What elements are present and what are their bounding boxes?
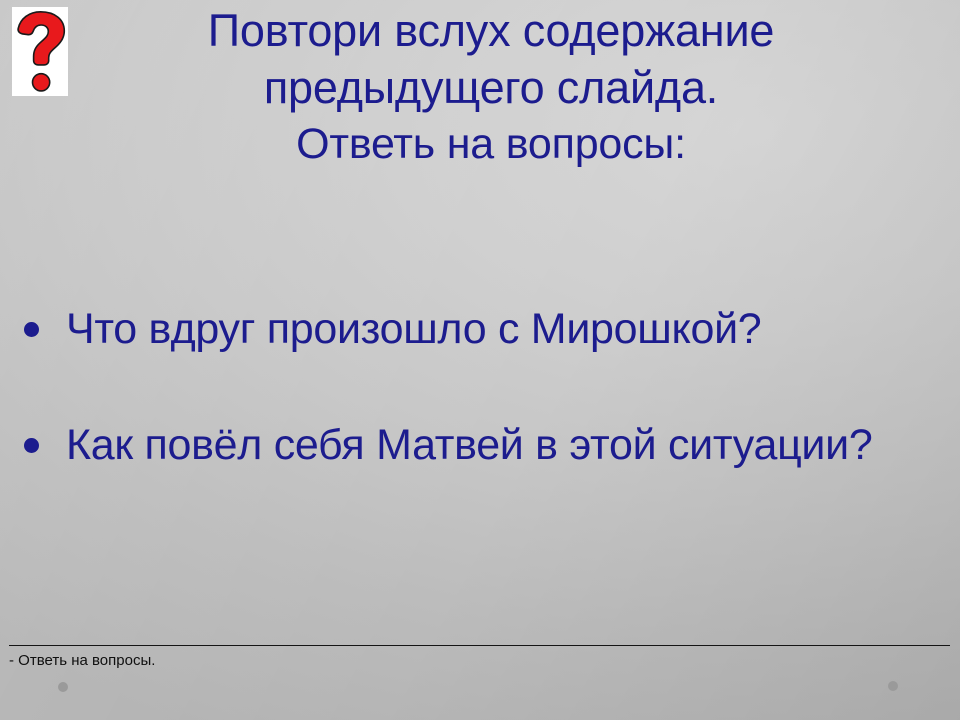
slide-canvas: Повтори вслух содержание предыдущего сла… bbox=[0, 0, 960, 720]
footer-note: - Ответь на вопросы. bbox=[9, 651, 155, 671]
title-line-3: Ответь на вопросы: bbox=[96, 116, 886, 173]
bullet-dot-icon bbox=[24, 322, 39, 337]
decorative-dot-left bbox=[58, 682, 68, 692]
bullet-text-1: Что вдруг произошло с Мирошкой? bbox=[66, 302, 761, 356]
footer-divider bbox=[9, 645, 950, 646]
title-line-1: Повтори вслух содержание bbox=[96, 2, 886, 59]
list-item: Что вдруг произошло с Мирошкой? bbox=[10, 302, 910, 356]
slide-title: Повтори вслух содержание предыдущего сла… bbox=[96, 2, 886, 173]
title-line-2: предыдущего слайда. bbox=[96, 59, 886, 116]
decorative-dot-right bbox=[888, 681, 898, 691]
slide-body: Что вдруг произошло с Мирошкой? Как повё… bbox=[10, 302, 910, 472]
list-item: Как повёл себя Матвей в этой ситуации? bbox=[10, 418, 910, 472]
bullet-text-2: Как повёл себя Матвей в этой ситуации? bbox=[66, 418, 872, 472]
bullet-dot-icon bbox=[24, 438, 39, 453]
question-mark-icon bbox=[12, 7, 68, 96]
